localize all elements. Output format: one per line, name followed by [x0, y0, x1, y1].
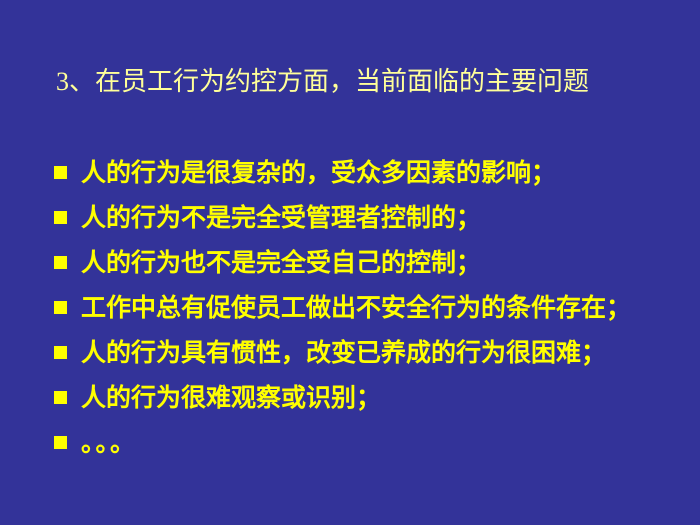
list-item: 人的行为很难观察或识别；	[54, 382, 694, 427]
square-bullet-icon	[54, 391, 67, 404]
list-item: 人的行为具有惯性，改变已养成的行为很困难；	[54, 337, 694, 382]
square-bullet-icon	[54, 211, 67, 224]
list-item-label: 人的行为也不是完全受自己的控制；	[81, 247, 694, 279]
square-bullet-icon	[54, 301, 67, 314]
bullet-list: 人的行为是很复杂的，受众多因素的影响； 人的行为不是完全受管理者控制的； 人的行…	[54, 157, 694, 472]
list-item: 。。。	[54, 427, 694, 472]
square-bullet-icon	[54, 436, 67, 449]
list-item: 工作中总有促使员工做出不安全行为的条件存在；	[54, 292, 694, 337]
list-item-label: 人的行为是很复杂的，受众多因素的影响；	[81, 157, 694, 189]
page-title: 3、在员工行为约控方面，当前面临的主要问题	[56, 65, 656, 99]
list-item: 人的行为不是完全受管理者控制的；	[54, 202, 694, 247]
square-bullet-icon	[54, 166, 67, 179]
list-item: 人的行为是很复杂的，受众多因素的影响；	[54, 157, 694, 202]
square-bullet-icon	[54, 346, 67, 359]
list-item-label: 人的行为具有惯性，改变已养成的行为很困难；	[81, 337, 694, 369]
list-item-label: 人的行为很难观察或识别；	[81, 382, 694, 414]
list-item-label: 。。。	[81, 427, 694, 459]
list-item-label: 人的行为不是完全受管理者控制的；	[81, 202, 694, 234]
presentation-slide: 3、在员工行为约控方面，当前面临的主要问题 人的行为是很复杂的，受众多因素的影响…	[0, 0, 700, 525]
list-item-label: 工作中总有促使员工做出不安全行为的条件存在；	[81, 292, 694, 324]
list-item: 人的行为也不是完全受自己的控制；	[54, 247, 694, 292]
square-bullet-icon	[54, 256, 67, 269]
